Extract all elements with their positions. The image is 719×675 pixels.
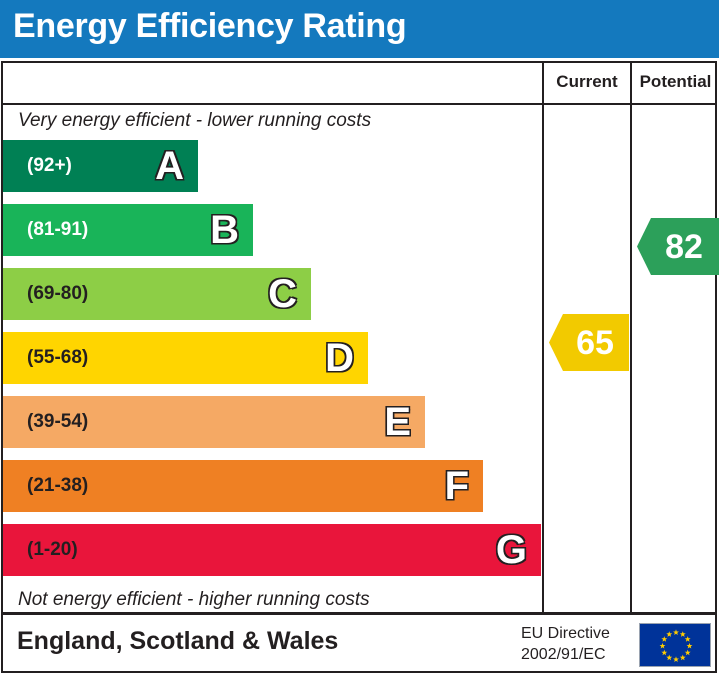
column-divider-potential	[630, 63, 632, 612]
band-letter-c: C	[268, 274, 297, 314]
rating-band-c: (69-80)C	[3, 268, 311, 320]
eu-directive-label: EU Directive 2002/91/EC	[521, 624, 610, 666]
band-range-a: (92+)	[27, 155, 72, 177]
column-divider-current	[542, 63, 544, 612]
potential-rating-marker: 82	[637, 218, 719, 275]
rating-bands: (92+)A(81-91)B(69-80)C(55-68)D(39-54)E(2…	[3, 63, 540, 612]
band-letter-g: G	[496, 530, 527, 570]
rating-band-f: (21-38)F	[3, 460, 483, 512]
band-letter-f: F	[445, 466, 469, 506]
eu-directive-line-2: 2002/91/EC	[521, 645, 610, 666]
band-letter-b: B	[210, 210, 239, 250]
energy-efficiency-rating-chart: Energy Efficiency Rating Current Potenti…	[0, 0, 719, 675]
eu-directive-line-1: EU Directive	[521, 624, 610, 645]
eu-stars-icon	[640, 624, 712, 668]
page-title: Energy Efficiency Rating	[13, 7, 406, 46]
band-range-f: (21-38)	[27, 475, 88, 497]
chart-title-bar: Energy Efficiency Rating	[0, 0, 719, 58]
column-header-current: Current	[544, 72, 630, 92]
band-range-c: (69-80)	[27, 283, 88, 305]
rating-band-g: (1-20)G	[3, 524, 541, 576]
chart-footer: England, Scotland & Wales EU Directive 2…	[1, 613, 717, 673]
band-letter-e: E	[384, 402, 411, 442]
band-range-e: (39-54)	[27, 411, 88, 433]
band-range-b: (81-91)	[27, 219, 88, 241]
rating-table: Current Potential Very energy efficient …	[1, 61, 717, 614]
eu-flag-icon	[639, 623, 711, 667]
band-range-g: (1-20)	[27, 539, 78, 561]
band-range-d: (55-68)	[27, 347, 88, 369]
band-letter-a: A	[155, 146, 184, 186]
band-letter-d: D	[325, 338, 354, 378]
potential-rating-value: 82	[653, 230, 703, 264]
rating-band-d: (55-68)D	[3, 332, 368, 384]
region-label: England, Scotland & Wales	[17, 627, 338, 656]
current-rating-marker: 65	[549, 314, 629, 371]
rating-band-e: (39-54)E	[3, 396, 425, 448]
rating-band-b: (81-91)B	[3, 204, 253, 256]
current-rating-value: 65	[564, 326, 614, 360]
rating-band-a: (92+)A	[3, 140, 198, 192]
column-header-potential: Potential	[632, 72, 719, 92]
